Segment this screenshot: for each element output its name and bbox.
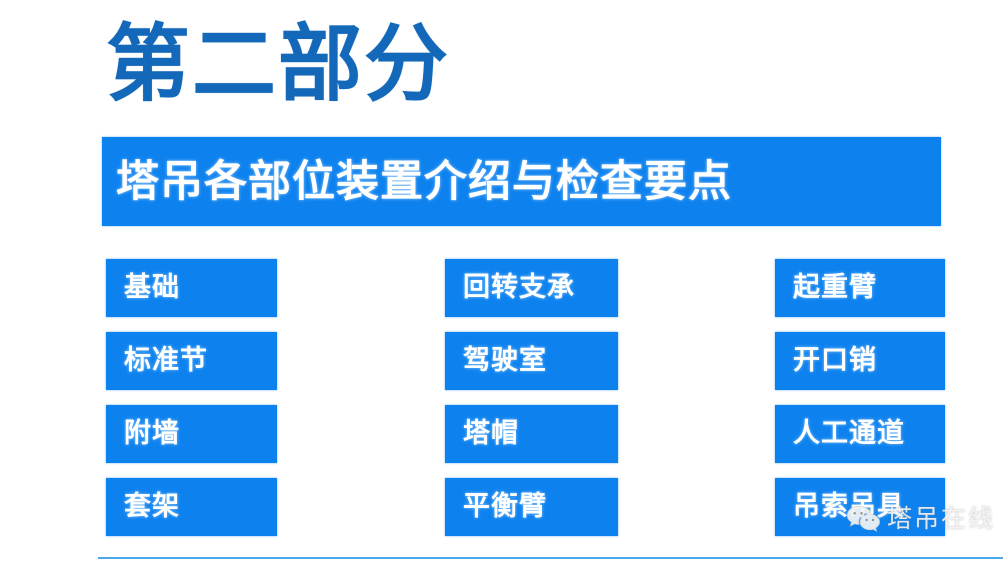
- topic-chip-label: 套架: [106, 492, 180, 522]
- topic-chip[interactable]: 人工通道: [775, 405, 945, 463]
- wechat-watermark: 塔吊在线: [846, 505, 995, 533]
- topic-chip-label: 起重臂: [775, 273, 877, 303]
- topic-chip[interactable]: 标准节: [106, 332, 277, 390]
- topic-chip[interactable]: 驾驶室: [445, 332, 618, 390]
- heading-banner: 塔吊各部位装置介绍与检查要点: [102, 137, 941, 226]
- topic-chip-label: 人工通道: [775, 419, 905, 449]
- banner-heading-text: 塔吊各部位装置介绍与检查要点: [116, 157, 732, 207]
- topic-chip[interactable]: 基础: [106, 259, 277, 317]
- topic-chip[interactable]: 起重臂: [775, 259, 945, 317]
- bottom-divider: [98, 557, 1003, 559]
- section-title: 第二部分: [106, 8, 450, 120]
- topic-chip-label: 驾驶室: [445, 346, 547, 376]
- topic-chip[interactable]: 塔帽: [445, 405, 618, 463]
- topic-chip-label: 平衡臂: [445, 492, 547, 522]
- topic-chip-label: 基础: [106, 273, 180, 303]
- wechat-watermark-text: 塔吊在线: [887, 505, 995, 533]
- topic-chip[interactable]: 回转支承: [445, 259, 618, 317]
- topic-chip[interactable]: 附墙: [106, 405, 277, 463]
- presentation-slide: 第二部分 塔吊各部位装置介绍与检查要点 基础 标准节 附墙 套架 回转支承: [0, 0, 1003, 569]
- topic-column-1: 基础 标准节 附墙 套架: [106, 259, 277, 551]
- topic-chip[interactable]: 套架: [106, 478, 277, 536]
- wechat-icon: [846, 505, 880, 533]
- topic-chip-label: 开口销: [775, 346, 877, 376]
- topic-chip-label: 附墙: [106, 419, 180, 449]
- topic-chip-label: 塔帽: [445, 419, 519, 449]
- topic-chip[interactable]: 开口销: [775, 332, 945, 390]
- topic-chip-label: 回转支承: [445, 273, 575, 303]
- topic-chip-label: 标准节: [106, 346, 208, 376]
- topic-column-2: 回转支承 驾驶室 塔帽 平衡臂: [445, 259, 618, 551]
- topic-chip[interactable]: 平衡臂: [445, 478, 618, 536]
